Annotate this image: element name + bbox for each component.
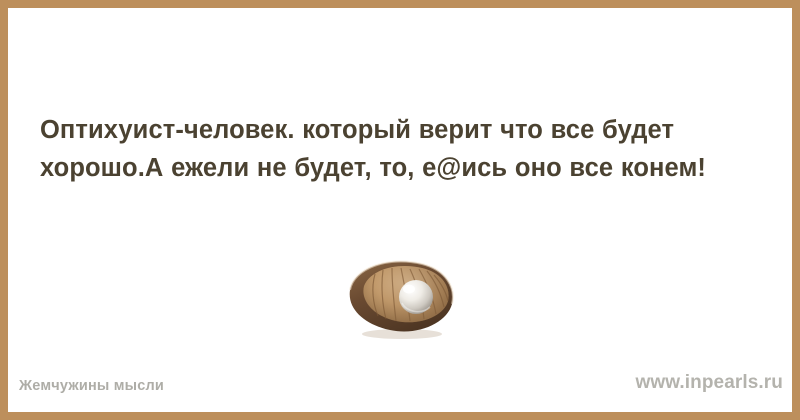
footer: Жемчужины мысли www.inpearls.ru [8, 368, 792, 412]
oyster-shell-with-pearl-icon [340, 250, 460, 342]
quote-text: Оптихуист-человек. который верит что все… [40, 111, 770, 187]
brand-label: Жемчужины мысли [19, 378, 164, 394]
illustration-container [8, 246, 792, 346]
quote-card: Оптихуист-человек. который верит что все… [0, 0, 800, 420]
website-url[interactable]: www.inpearls.ru [635, 372, 783, 394]
